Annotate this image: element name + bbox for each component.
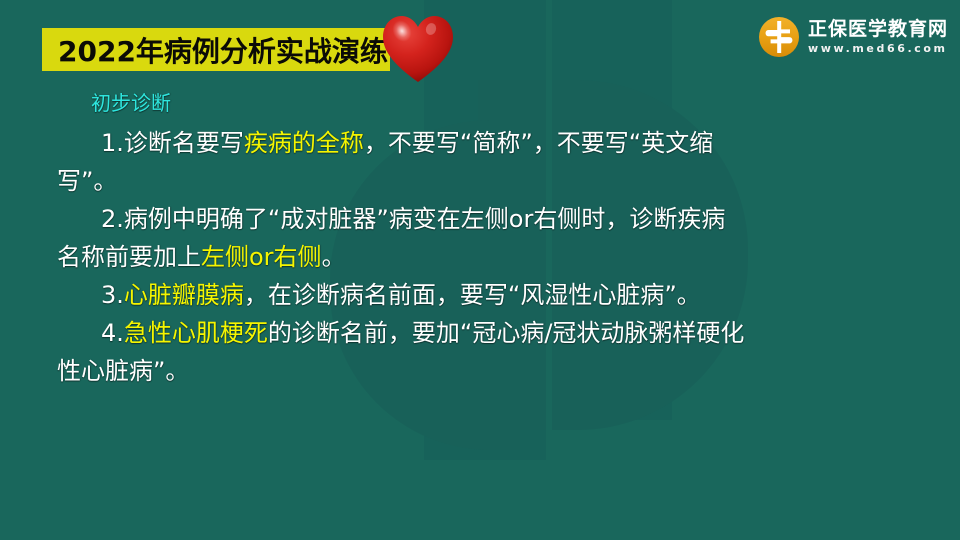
rule-text: ，在诊断病名前面，要写“风湿性心脏病”。 (244, 281, 701, 309)
rule-highlight-text: 左侧or右侧 (201, 243, 322, 271)
rule-item: 2.病例中明确了“成对脏器”病变在左侧or右侧时，诊断疾病名称前要加上左侧or右… (57, 200, 747, 276)
rule-text: 。 (322, 243, 346, 271)
cross-circle-icon (758, 16, 800, 58)
section-heading: 初步诊断 (91, 88, 747, 118)
content-body: 初步诊断 1.诊断名要写疾病的全称，不要写“简称”，不要写“英文缩写”。2.病例… (57, 88, 747, 390)
brand-logo: 正保医学教育网 www.med66.com (758, 16, 948, 58)
rule-item-number: 1. (101, 129, 124, 157)
rule-highlight-text: 急性心肌梗死 (124, 319, 268, 347)
heart-icon (381, 13, 455, 85)
rule-item-number: 3. (101, 281, 124, 309)
page-title: 2022年病例分析实战演练 (58, 30, 388, 70)
rule-highlight-text: 心脏瓣膜病 (124, 281, 244, 309)
logo-text-block: 正保医学教育网 www.med66.com (808, 20, 948, 54)
rule-list: 1.诊断名要写疾病的全称，不要写“简称”，不要写“英文缩写”。2.病例中明确了“… (57, 124, 747, 390)
rule-highlight-text: 疾病的全称 (244, 129, 364, 157)
rule-item: 1.诊断名要写疾病的全称，不要写“简称”，不要写“英文缩写”。 (57, 124, 747, 200)
rule-item-number: 2. (101, 205, 124, 233)
rule-item: 3.心脏瓣膜病，在诊断病名前面，要写“风湿性心脏病”。 (57, 276, 747, 314)
rule-item: 4.急性心肌梗死的诊断名前，要加“冠心病/冠状动脉粥样硬化性心脏病”。 (57, 314, 747, 390)
logo-url: www.med66.com (808, 43, 948, 54)
slide-canvas: 2022年病例分析实战演练 (0, 0, 960, 540)
rule-item-number: 4. (101, 319, 124, 347)
rule-text: 诊断名要写 (124, 129, 244, 157)
title-banner: 2022年病例分析实战演练 (42, 28, 390, 71)
rule-text: 病例中明确了“成对脏器”病变在左侧or右侧时，诊断疾病名称前要加上 (57, 205, 725, 271)
logo-name: 正保医学教育网 (808, 20, 948, 39)
